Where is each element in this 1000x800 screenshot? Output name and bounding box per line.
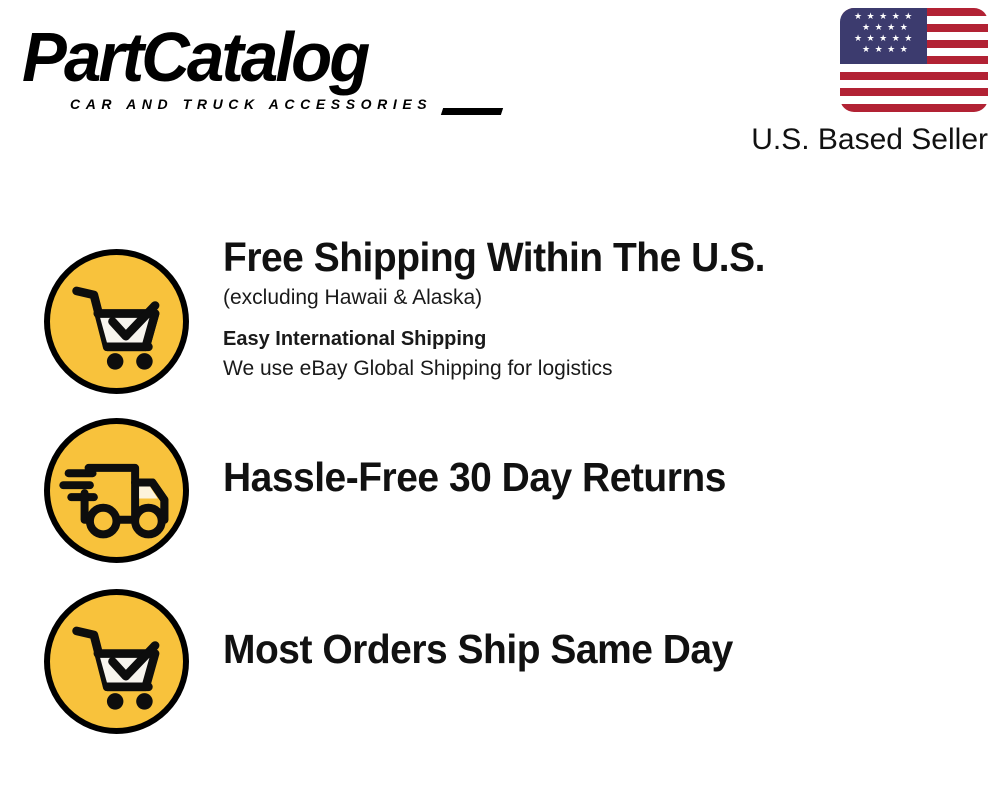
feature-headline: Hassle-Free 30 Day Returns [223, 453, 942, 501]
seller-label: U.S. Based Seller [718, 123, 988, 157]
delivery-truck-icon [44, 418, 189, 563]
feature-note: (excluding Hawaii & Alaska) [223, 283, 980, 313]
feature-row: Hassle-Free 30 Day Returns [0, 395, 1000, 567]
brand-tagline: CAR AND TRUCK ACCESSORIES [70, 96, 432, 112]
brand-logo: PartCatalog CAR AND TRUCK ACCESSORIES [22, 22, 492, 114]
us-based-seller-badge: ★ ★ ★ ★ ★ ★ ★ ★ ★ ★ ★ ★ ★ ★ ★ ★ ★ ★ U.S.… [718, 8, 988, 157]
feature-text-block: Most Orders Ship Same Day [223, 625, 980, 673]
feature-text-block: Hassle-Free 30 Day Returns [223, 453, 980, 501]
feature-text-block: Free Shipping Within The U.S. (excluding… [223, 233, 980, 384]
feature-row: Most Orders Ship Same Day [0, 567, 1000, 739]
feature-sub-heading: Easy International Shipping [223, 324, 980, 354]
us-flag-icon: ★ ★ ★ ★ ★ ★ ★ ★ ★ ★ ★ ★ ★ ★ ★ ★ ★ ★ [840, 8, 988, 112]
flag-stars: ★ ★ ★ ★ ★ ★ ★ ★ ★ ★ ★ ★ ★ ★ ★ ★ ★ ★ [840, 8, 927, 64]
brand-swoosh-decoration [441, 108, 503, 115]
brand-wordmark: PartCatalog [22, 22, 473, 92]
promo-banner: PartCatalog CAR AND TRUCK ACCESSORIES ★ … [0, 0, 1000, 800]
feature-sub-text: We use eBay Global Shipping for logistic… [223, 354, 980, 384]
shopping-cart-check-icon [44, 589, 189, 734]
feature-headline: Free Shipping Within The U.S. [223, 233, 942, 281]
feature-headline: Most Orders Ship Same Day [223, 625, 942, 673]
shopping-cart-check-icon [44, 249, 189, 394]
feature-row: Free Shipping Within The U.S. (excluding… [0, 225, 1000, 395]
